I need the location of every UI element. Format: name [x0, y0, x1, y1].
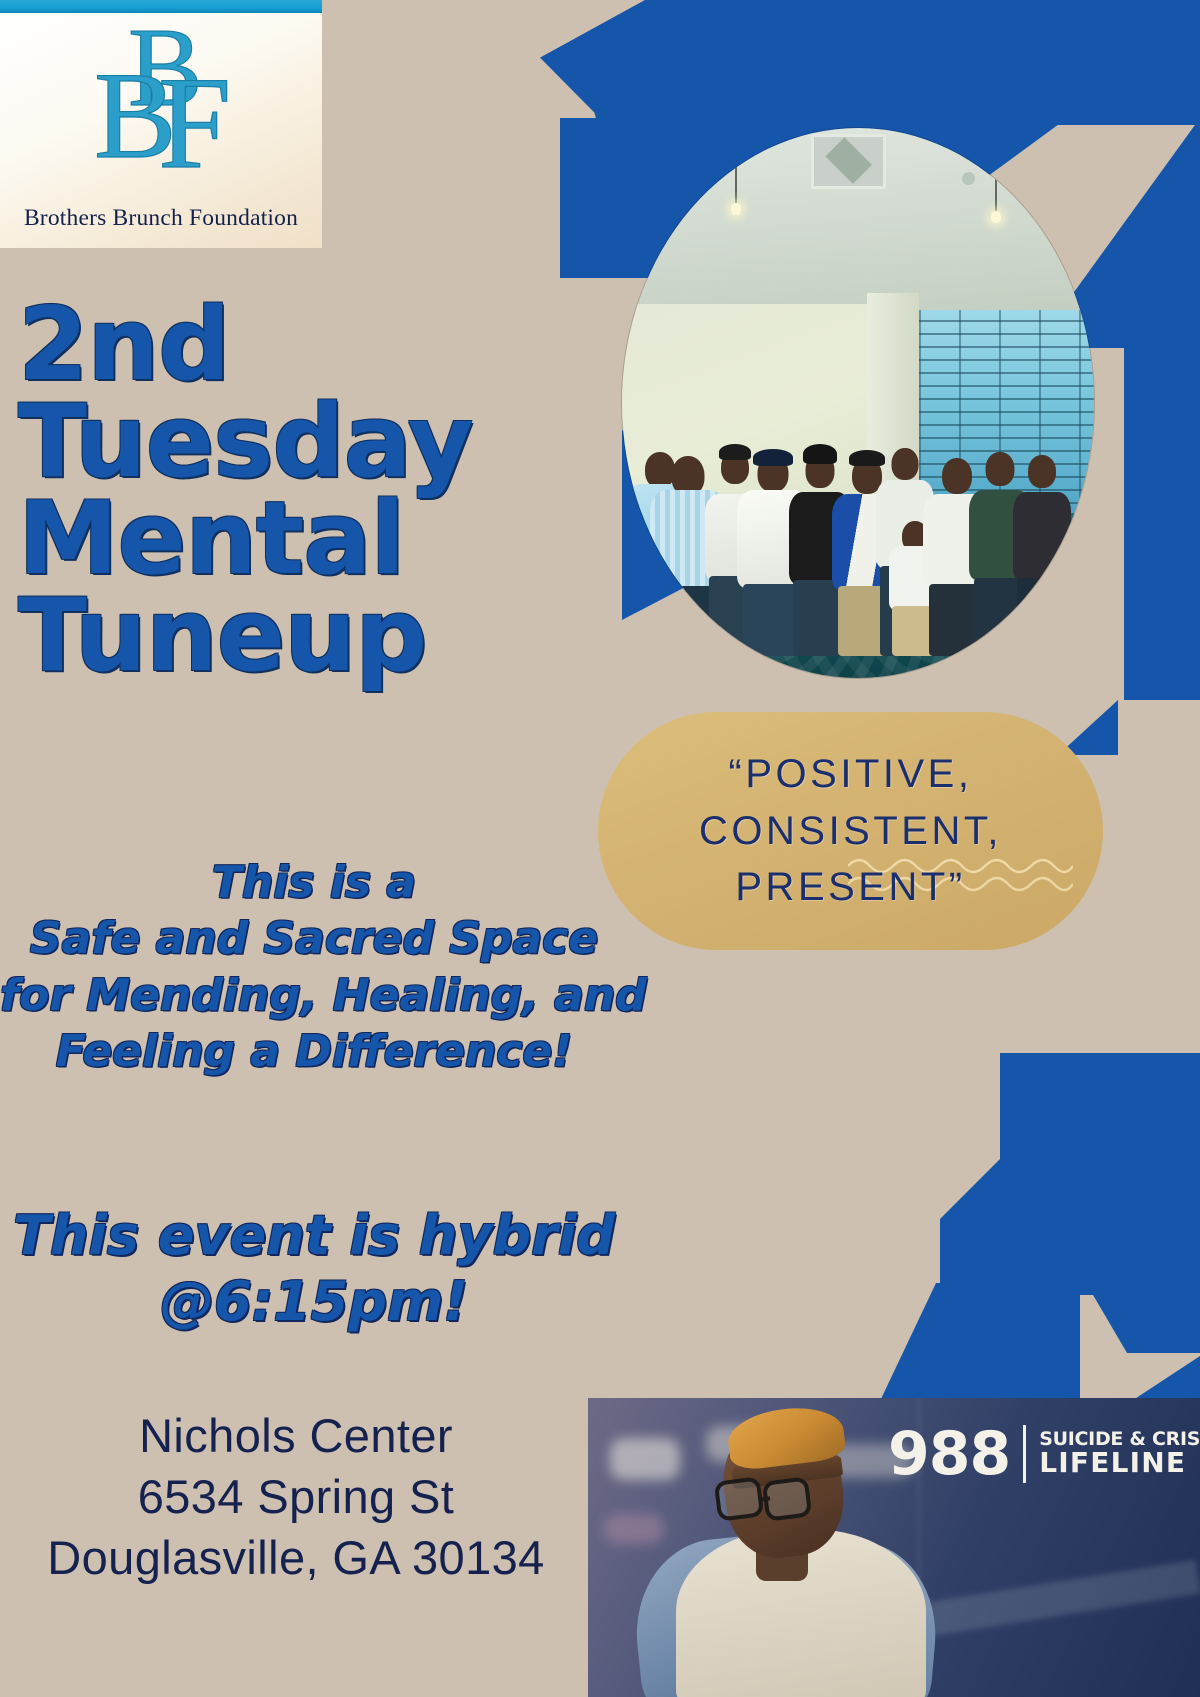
photo-bokeh-light	[604, 1514, 664, 1544]
decorative-blue-band-bottom-2	[1086, 1283, 1200, 1353]
flyer-headline: 2nd Tuesday Mental Tuneup	[18, 296, 628, 684]
body-line-1: This is a	[0, 855, 628, 911]
photo-pendant-light-right	[995, 167, 997, 215]
quote-line-2: CONSISTENT,	[699, 803, 1002, 860]
city-state-zip: Douglasville, GA 30134	[0, 1527, 592, 1588]
bbf-monogram-icon: B B F	[0, 12, 322, 194]
lifeline-subtitle-line-2: LIFELINE	[1039, 1449, 1200, 1478]
event-flyer: B B F Brothers Brunch Foundation 2nd Tue…	[0, 0, 1200, 1697]
headline-line-4: Tuneup	[18, 587, 628, 684]
motto-quote-pill: “POSITIVE, CONSISTENT, PRESENT”	[598, 712, 1103, 950]
street-address: 6534 Spring St	[0, 1466, 592, 1527]
photo-ceiling-vent-icon	[811, 134, 887, 189]
venue-name: Nichols Center	[0, 1405, 592, 1466]
flyer-body-copy: This is a Safe and Sacred Space for Mend…	[0, 855, 628, 1080]
headline-line-2: Tuesday	[18, 393, 628, 490]
decorative-blue-block-top-right	[880, 0, 1200, 125]
decorative-blue-band-bottom-3	[1130, 1356, 1200, 1402]
headline-line-3: Mental	[18, 490, 628, 587]
988-lifeline-logo: 988 SUICIDE & CRISIS LIFELINE	[888, 1424, 1200, 1484]
body-line-3: for Mending, Healing, and	[0, 968, 628, 1024]
group-photo-circle	[622, 128, 1094, 678]
event-time: @6:15pm!	[0, 1269, 628, 1335]
event-address: Nichols Center 6534 Spring St Douglasvil…	[0, 1405, 592, 1588]
lifeline-number: 988	[888, 1424, 1010, 1484]
body-line-4: Feeling a Difference!	[0, 1024, 628, 1080]
brothers-brunch-foundation-logo: B B F Brothers Brunch Foundation	[0, 0, 322, 248]
event-format-and-time: This event is hybrid @6:15pm!	[0, 1203, 628, 1335]
decorative-blue-band-bottom	[880, 1283, 1080, 1401]
logo-organization-name: Brothers Brunch Foundation	[0, 205, 322, 232]
photo-ceiling-light-dot	[962, 172, 975, 185]
headline-line-1: 2nd	[18, 296, 628, 393]
lifeline-divider-rule	[1023, 1425, 1026, 1483]
portrait-glasses-left-lens	[714, 1476, 765, 1521]
quote-line-1: “POSITIVE,	[729, 746, 973, 803]
svg-text:F: F	[158, 49, 231, 189]
lifeline-portrait-photo: 988 SUICIDE & CRISIS LIFELINE	[588, 1398, 1200, 1697]
body-line-2: Safe and Sacred Space	[0, 911, 628, 967]
photo-bokeh-light	[610, 1438, 680, 1480]
photo-pendant-light-left	[735, 161, 737, 207]
quote-line-3: PRESENT”	[735, 859, 965, 916]
hybrid-line-1: This event is hybrid	[0, 1203, 628, 1269]
decorative-blue-step-b	[940, 1095, 1140, 1295]
lifeline-wordmark: SUICIDE & CRISIS LIFELINE	[1039, 1430, 1200, 1478]
